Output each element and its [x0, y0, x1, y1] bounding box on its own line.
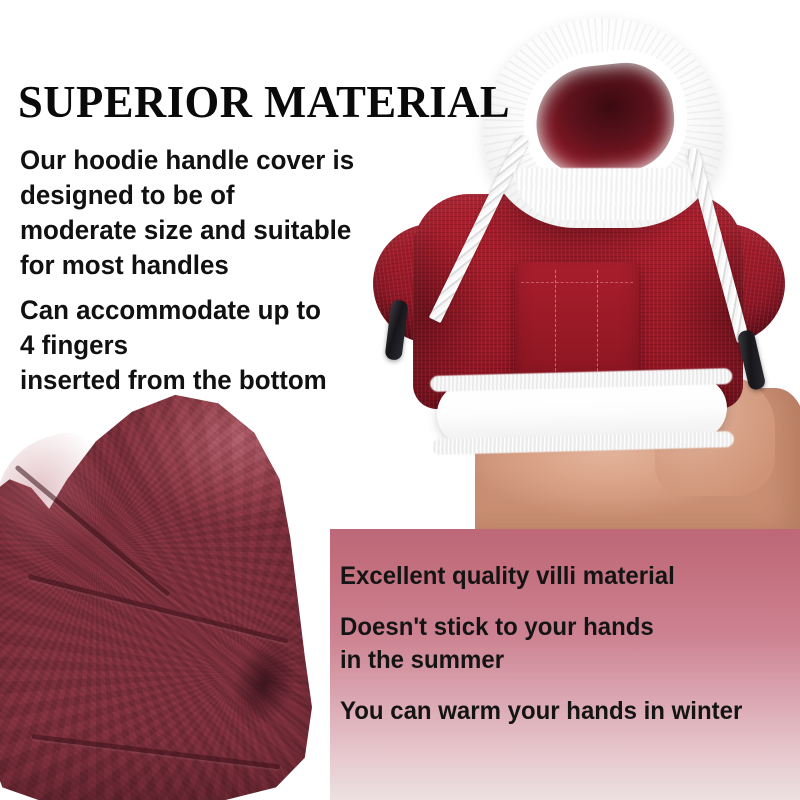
left-copy-block: Our hoodie handle cover is designed to b…	[20, 143, 380, 408]
product-infographic: Excellent quality villi material Doesn't…	[0, 0, 800, 800]
hood-fur-fringe	[513, 168, 703, 220]
pink-copy-line: You can warm your hands in winter	[340, 695, 777, 728]
hoodie-hood	[483, 18, 723, 228]
left-copy-line: Our hoodie handle cover is	[20, 143, 366, 178]
pink-copy-line: Doesn't stick to your hands	[340, 611, 777, 644]
pink-paragraph: You can warm your hands in winter	[340, 695, 795, 728]
hoodie-fur-hem	[436, 376, 728, 446]
left-copy-line: 4 fingers	[20, 328, 366, 363]
pink-paragraph: Doesn't stick to your hands in the summe…	[340, 611, 795, 677]
pocket-stitch-line	[521, 282, 633, 283]
left-copy-line: for most handles	[20, 248, 366, 283]
pocket-stitch-line	[597, 270, 598, 386]
left-copy-line: inserted from the bottom	[20, 363, 366, 398]
pink-paragraph: Excellent quality villi material	[340, 560, 795, 593]
left-copy-line: Can accommodate up to	[20, 293, 366, 328]
pink-copy-line: Excellent quality villi material	[340, 560, 777, 593]
page-title: SUPERIOR MATERIAL	[18, 78, 510, 126]
left-paragraph: Our hoodie handle cover is designed to b…	[20, 143, 380, 283]
pocket-stitch-line	[555, 270, 556, 386]
pink-copy-line: in the summer	[340, 644, 777, 677]
fleece-fabric-photo	[0, 378, 348, 800]
left-copy-line: designed to be of	[20, 178, 366, 213]
left-copy-line: moderate size and suitable	[20, 213, 366, 248]
hood-opening	[530, 55, 681, 181]
left-paragraph: Can accommodate up to 4 fingers inserted…	[20, 293, 380, 398]
pink-panel-copy: Excellent quality villi material Doesn't…	[340, 560, 795, 746]
